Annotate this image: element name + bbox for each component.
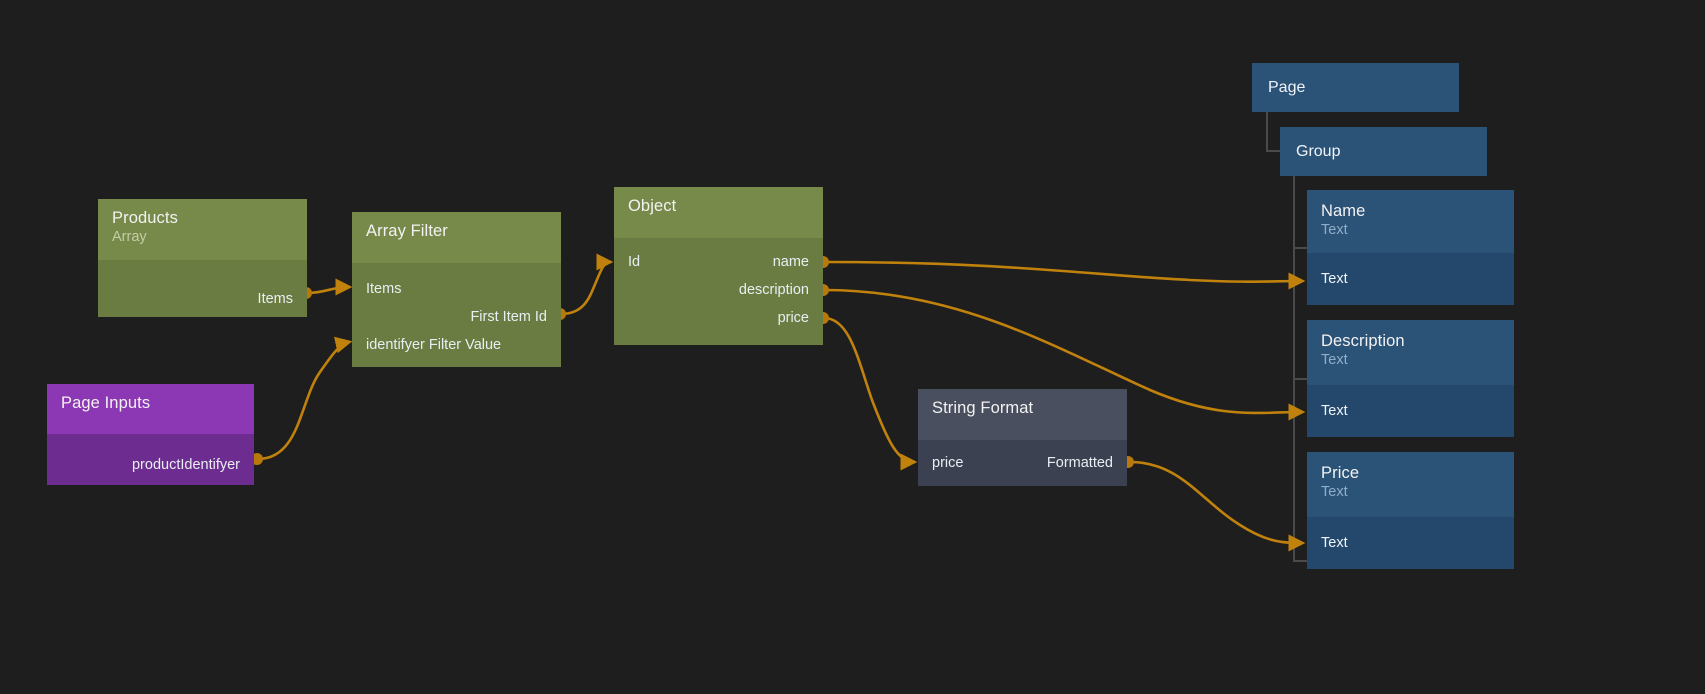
price-card-input-label: Text bbox=[1321, 535, 1348, 551]
edge-arrayfilter-firstitemid-to-object-id bbox=[561, 262, 610, 314]
products-node-subtitle: Array bbox=[112, 229, 293, 246]
object-output-description[interactable]: description bbox=[614, 276, 823, 304]
array-filter-input-filter-value-label: identifyer Filter Value bbox=[366, 337, 501, 353]
string-format-title: String Format bbox=[932, 399, 1113, 418]
string-format-header: String Format bbox=[918, 389, 1127, 440]
tree-line-group-vertical bbox=[1293, 174, 1295, 562]
page-inputs-body: productIdentifyer bbox=[47, 434, 254, 485]
description-card-input-label: Text bbox=[1321, 403, 1348, 419]
name-card-input-port[interactable]: Text bbox=[1307, 253, 1514, 305]
price-card-input-port[interactable]: Text bbox=[1307, 517, 1514, 569]
string-format-node[interactable]: String Format price Formatted bbox=[918, 389, 1127, 486]
page-inputs-output-productidentifyer-label: productIdentifyer bbox=[132, 457, 240, 473]
array-filter-node[interactable]: Array Filter Items First Item Id identif… bbox=[352, 212, 561, 367]
array-filter-body: Items First Item Id identifyer Filter Va… bbox=[352, 263, 561, 367]
string-format-output-formatted-label: Formatted bbox=[1047, 455, 1113, 471]
name-card-header: Name Text bbox=[1307, 190, 1514, 253]
price-card-header: Price Text bbox=[1307, 452, 1514, 517]
object-node[interactable]: Object Id name description price bbox=[614, 187, 823, 345]
object-node-body: Id name description price bbox=[614, 238, 823, 345]
page-inputs-title: Page Inputs bbox=[61, 394, 240, 413]
name-card-input-label: Text bbox=[1321, 271, 1348, 287]
node-graph-canvas[interactable]: Page Group Name Text Text Description Te… bbox=[0, 0, 1705, 694]
edge-object-name-to-name-card bbox=[824, 262, 1302, 282]
tree-box-page[interactable]: Page bbox=[1252, 63, 1459, 112]
string-format-body: price Formatted bbox=[918, 440, 1127, 486]
price-card-subtitle: Text bbox=[1321, 484, 1500, 501]
page-inputs-header: Page Inputs bbox=[47, 384, 254, 434]
tree-box-group[interactable]: Group bbox=[1280, 127, 1487, 176]
edge-stringformat-formatted-to-price-card bbox=[1130, 462, 1302, 543]
object-node-header: Object bbox=[614, 187, 823, 238]
products-output-items-label: Items bbox=[258, 291, 293, 307]
description-card-node[interactable]: Description Text Text bbox=[1307, 320, 1514, 437]
tree-box-page-label: Page bbox=[1268, 79, 1305, 97]
products-node[interactable]: Products Array Items bbox=[98, 199, 307, 317]
array-filter-output-first-item-id-label: First Item Id bbox=[470, 309, 547, 325]
object-output-price-label: price bbox=[778, 310, 809, 326]
price-card-title: Price bbox=[1321, 464, 1500, 483]
tree-line-group-tick-name bbox=[1293, 247, 1307, 249]
products-node-body: Items bbox=[98, 260, 307, 317]
tree-box-group-label: Group bbox=[1296, 143, 1340, 161]
price-card-node[interactable]: Price Text Text bbox=[1307, 452, 1514, 569]
tree-line-group-tick-price bbox=[1293, 560, 1307, 562]
object-output-name-label: name bbox=[773, 254, 809, 270]
products-node-header: Products Array bbox=[98, 199, 307, 260]
description-card-title: Description bbox=[1321, 332, 1500, 351]
array-filter-title: Array Filter bbox=[366, 222, 547, 241]
tree-line-page-horizontal bbox=[1266, 150, 1280, 152]
page-inputs-node[interactable]: Page Inputs productIdentifyer bbox=[47, 384, 254, 485]
edge-products-items-to-arrayfilter-items bbox=[307, 287, 349, 293]
string-format-output-formatted[interactable]: Formatted bbox=[918, 449, 1127, 477]
description-card-body: Text bbox=[1307, 385, 1514, 437]
name-card-body: Text bbox=[1307, 253, 1514, 305]
edge-pageinputs-to-arrayfilter-filtervalue bbox=[258, 342, 349, 459]
array-filter-input-filter-value[interactable]: identifyer Filter Value bbox=[352, 331, 561, 359]
products-output-items[interactable]: Items bbox=[98, 260, 307, 317]
array-filter-output-first-item-id[interactable]: First Item Id bbox=[352, 303, 561, 331]
array-filter-input-items[interactable]: Items bbox=[352, 275, 561, 303]
object-output-name[interactable]: name bbox=[614, 248, 823, 276]
edge-object-price-to-stringformat-price bbox=[824, 318, 914, 462]
tree-line-page-vertical bbox=[1266, 110, 1268, 152]
name-card-title: Name bbox=[1321, 202, 1500, 221]
object-node-title: Object bbox=[628, 197, 809, 216]
object-output-price[interactable]: price bbox=[614, 304, 823, 332]
description-card-header: Description Text bbox=[1307, 320, 1514, 385]
array-filter-header: Array Filter bbox=[352, 212, 561, 263]
name-card-subtitle: Text bbox=[1321, 222, 1500, 239]
object-output-description-label: description bbox=[739, 282, 809, 298]
price-card-body: Text bbox=[1307, 517, 1514, 569]
name-card-node[interactable]: Name Text Text bbox=[1307, 190, 1514, 305]
description-card-input-port[interactable]: Text bbox=[1307, 385, 1514, 437]
tree-line-group-tick-description bbox=[1293, 378, 1307, 380]
page-inputs-output-productidentifyer[interactable]: productIdentifyer bbox=[47, 434, 254, 485]
description-card-subtitle: Text bbox=[1321, 352, 1500, 369]
array-filter-input-items-label: Items bbox=[366, 281, 401, 297]
products-node-title: Products bbox=[112, 209, 293, 228]
